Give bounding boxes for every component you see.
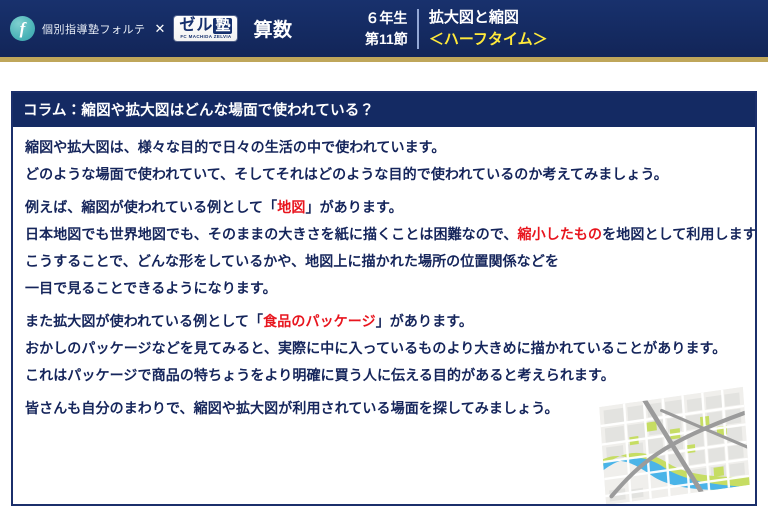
text-line: これはパッケージで商品の特ちょうをより明確に買う人に伝える目的があると考えられま… <box>25 368 743 382</box>
text-run: 」があります。 <box>376 313 473 329</box>
text-run: 」があります。 <box>305 199 402 215</box>
text-line: おかしのパッケージなどを見てみると、実際に中に入っているものより大きめに描かれて… <box>25 341 743 355</box>
paragraph: 縮図や拡大図は、様々な目的で日々の生活の中で使われています。どのような場面で使わ… <box>25 140 743 181</box>
text-line: 日本地図でも世界地図でも、そのままの大きさを紙に描くことは困難なので、縮小したも… <box>25 227 743 241</box>
zell-logo-char-ze: ゼ <box>179 18 195 34</box>
text-run: また拡大図が使われている例として「 <box>25 313 263 329</box>
highlighted-term: 地図 <box>277 199 305 215</box>
lesson-title: 拡大図と縮図 <box>429 7 548 29</box>
text-run: 一目で見ることできるようになります。 <box>25 280 277 296</box>
map-illustration <box>602 397 747 495</box>
text-line: また拡大図が使われている例として「食品のパッケージ」があります。 <box>25 314 743 328</box>
page-header: 個別指導塾フォルテ ✕ ゼ ル 塾 FC MACHIDA ZELVIA 算数 ６… <box>0 0 768 57</box>
lesson-info: ６年生 第11節 拡大図と縮図 ＜ハーフタイム＞ <box>365 0 548 57</box>
text-run: を地図として利用します。 <box>602 226 757 242</box>
zell-logo-char-juku: 塾 <box>213 18 232 34</box>
zell-juku-logo: ゼ ル 塾 FC MACHIDA ZELVIA <box>174 16 237 41</box>
paragraph: また拡大図が使われている例として「食品のパッケージ」があります。おかしのパッケー… <box>25 314 743 382</box>
text-run: 例えば、縮図が使われている例として「 <box>25 199 277 215</box>
text-line: 縮図や拡大図は、様々な目的で日々の生活の中で使われています。 <box>25 140 743 154</box>
slide-page: 個別指導塾フォルテ ✕ ゼ ル 塾 FC MACHIDA ZELVIA 算数 ６… <box>0 0 768 532</box>
text-line: 一目で見ることできるようになります。 <box>25 281 743 295</box>
brand-separator-icon: ✕ <box>155 21 166 37</box>
lesson-subtitle: ＜ハーフタイム＞ <box>429 29 548 51</box>
zell-logo-row: ゼ ル 塾 <box>179 18 232 34</box>
brand-lockup: 個別指導塾フォルテ ✕ ゼ ル 塾 FC MACHIDA ZELVIA 算数 <box>0 15 292 42</box>
text-run: これはパッケージで商品の特ちょうをより明確に買う人に伝える目的があると考えられま… <box>25 367 615 383</box>
forte-brand-name: 個別指導塾フォルテ <box>42 21 146 37</box>
section-label: 第11節 <box>365 29 408 49</box>
grade-section-group: ６年生 第11節 <box>365 8 417 49</box>
column-body: 縮図や拡大図は、様々な目的で日々の生活の中で使われています。どのような場面で使わ… <box>13 127 755 506</box>
grade-label: ６年生 <box>365 8 407 28</box>
map-illustration-svg <box>599 387 749 505</box>
lesson-title-group: 拡大図と縮図 ＜ハーフタイム＞ <box>419 7 548 51</box>
text-run: 日本地図でも世界地図でも、そのままの大きさを紙に描くことは困難なので、 <box>25 226 518 242</box>
column-panel: コラム：縮図や拡大図はどんな場面で使われている？ 縮図や拡大図は、様々な目的で日… <box>11 91 757 506</box>
text-run: おかしのパッケージなどを見てみると、実際に中に入っているものより大きめに描かれて… <box>25 340 726 356</box>
subject-label: 算数 <box>253 15 292 42</box>
column-title-bar: コラム：縮図や拡大図はどんな場面で使われている？ <box>13 93 755 127</box>
text-run: 縮図や拡大図は、様々な目的で日々の生活の中で使われています。 <box>25 139 445 155</box>
highlighted-term: 食品のパッケージ <box>263 313 376 329</box>
map-illustration-inner <box>599 387 749 505</box>
text-line: こうすることで、どんな形をしているかや、地図上に描かれた場所の位置関係などを <box>25 254 743 268</box>
zell-logo-char-ru: ル <box>196 18 212 34</box>
text-run: どのような場面で使われていて、そしてそれはどのような目的で使われているのか考えて… <box>25 166 668 182</box>
paragraph-list: 縮図や拡大図は、様々な目的で日々の生活の中で使われています。どのような場面で使わ… <box>25 140 743 415</box>
text-run: 皆さんも自分のまわりで、縮図や拡大図が利用されている場面を探してみましょう。 <box>25 400 559 416</box>
text-line: 例えば、縮図が使われている例として「地図」があります。 <box>25 200 743 214</box>
header-gold-rule <box>0 57 768 62</box>
highlighted-term: 縮小したもの <box>518 226 603 242</box>
text-run: こうすることで、どんな形をしているかや、地図上に描かれた場所の位置関係などを <box>25 253 559 269</box>
zell-logo-subtitle: FC MACHIDA ZELVIA <box>180 35 231 40</box>
paragraph: 例えば、縮図が使われている例として「地図」があります。日本地図でも世界地図でも、… <box>25 200 743 295</box>
forte-logo-icon <box>10 16 35 41</box>
text-line: どのような場面で使われていて、そしてそれはどのような目的で使われているのか考えて… <box>25 167 743 181</box>
